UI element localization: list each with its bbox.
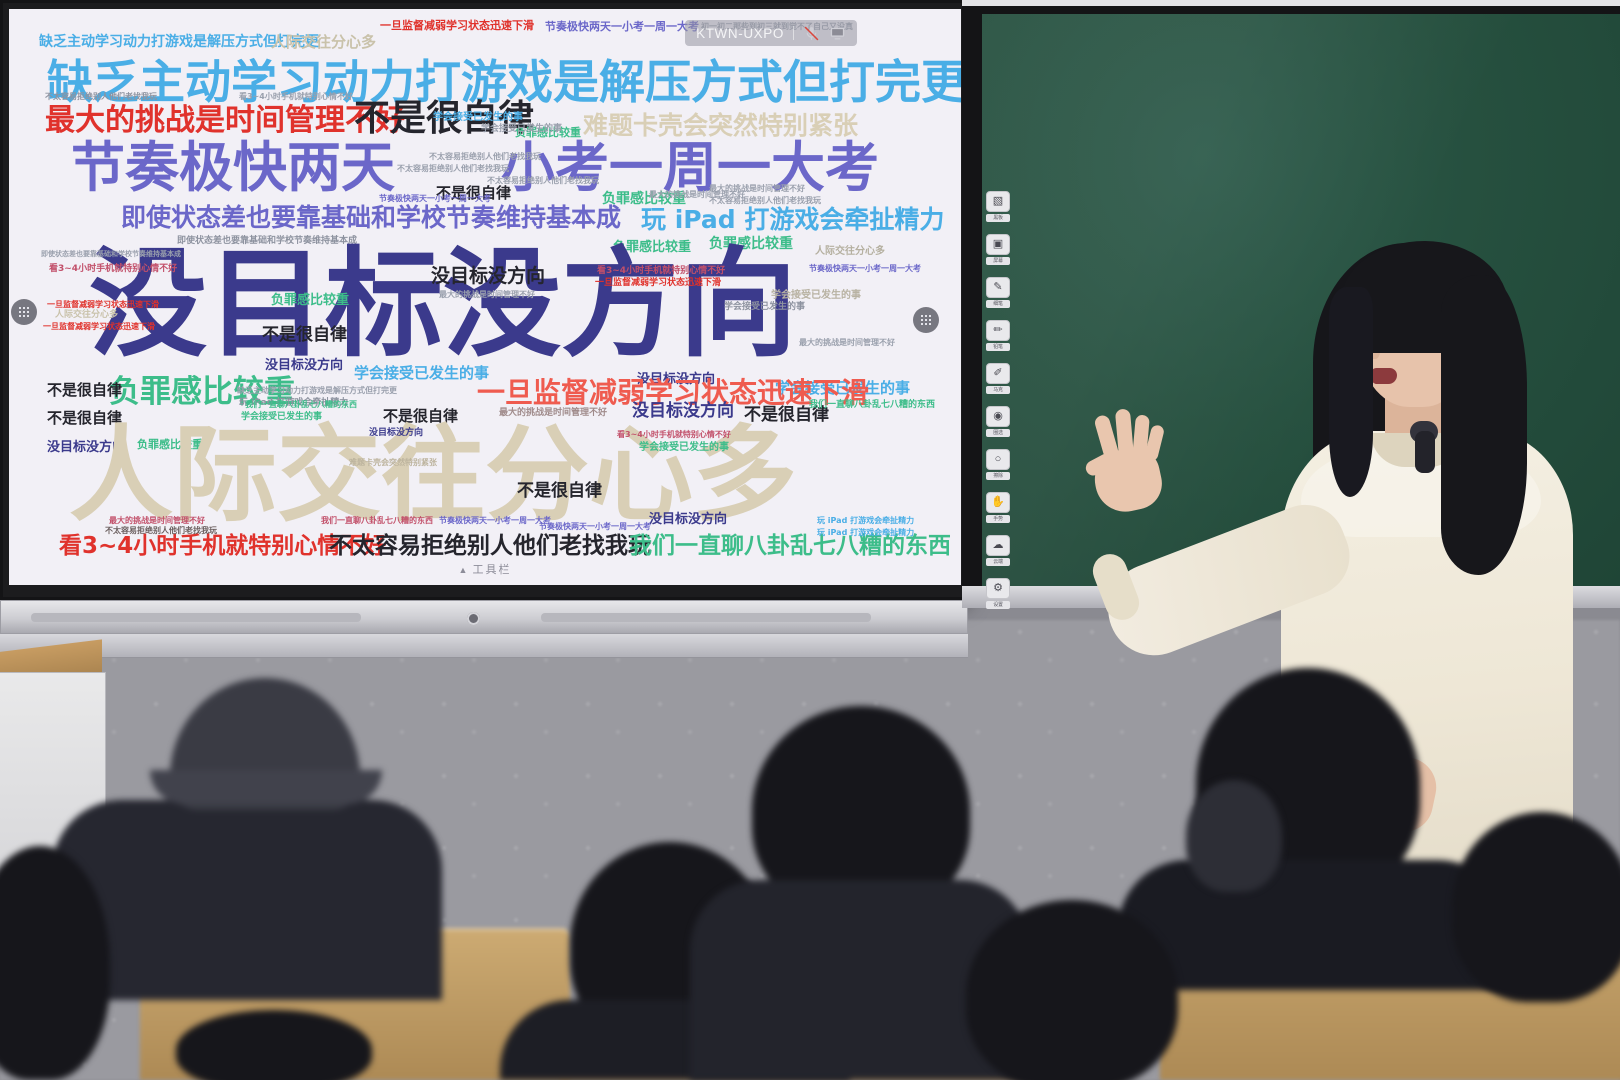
word-cloud-term: 看3~4小时手机就特别心情不好 bbox=[239, 93, 353, 101]
cloud-save-tool-icon: ☁ bbox=[986, 535, 1010, 556]
bezel-vent-left bbox=[31, 613, 361, 622]
word-cloud-term: 玩 iPad 打游戏会牵扯精力 bbox=[641, 207, 944, 232]
settings-tool-icon: ⚙ bbox=[986, 578, 1010, 599]
whiteboard-screen[interactable]: 缺乏主动学习动力打游戏是解压方式但打完更人际交往分心多一旦监督减弱学习状态迅速下… bbox=[9, 9, 961, 585]
circle-select-tool-icon: ◉ bbox=[986, 406, 1010, 427]
word-cloud-term: 不太容易拒绝别人他们老找我玩 bbox=[329, 535, 651, 558]
word-cloud-term: 节奏极快两天一小考一周一大考 bbox=[539, 523, 651, 531]
word-cloud-term: 即使状态差也要靠基础和学校节奏维持基本成 bbox=[41, 251, 181, 258]
whiteboard-speaker-rail bbox=[0, 634, 968, 658]
word-cloud-term: 不是很自律 bbox=[47, 383, 122, 398]
word-cloud-term: 我们一直聊八卦乱七八糟的东西 bbox=[245, 401, 357, 409]
word-cloud-term: 不太容易拒绝别人他们老找我玩 bbox=[45, 93, 157, 101]
pen-tool-caption: 铅笔 bbox=[986, 343, 1010, 351]
word-cloud-term: 难题卡壳会突然特别紧张 bbox=[349, 459, 437, 467]
hand-tool[interactable]: ✋手势 bbox=[986, 492, 1010, 523]
whiteboard-bottom-bezel bbox=[0, 600, 968, 634]
attendee-gl-head bbox=[1186, 780, 1282, 892]
word-cloud-term: 不是很自律 bbox=[262, 327, 347, 344]
word-cloud-term: 节奏极快两天一小考一周一大考 bbox=[439, 517, 551, 525]
word-cloud-term: 学会接受已发生的事 bbox=[639, 443, 729, 453]
board-eraser-tool-caption: 黑板 bbox=[986, 214, 1010, 222]
status-divider bbox=[793, 26, 794, 40]
word-cloud-term: 节奏极快两天 bbox=[71, 141, 395, 195]
word-cloud-term: 即使状态差也要靠基础和学校节奏维持基本成 bbox=[121, 205, 621, 230]
word-cloud-term: 不太容易拒绝别人他们老找我玩 bbox=[429, 153, 541, 161]
word-cloud-term: 节奏极快两天一小考一周一大考 bbox=[809, 265, 921, 273]
screen-tool-caption: 屏幕 bbox=[986, 257, 1010, 265]
pen-tool[interactable]: ✏铅笔 bbox=[986, 320, 1010, 351]
word-cloud-term: 最大的挑战是时间管理不好 bbox=[499, 409, 607, 418]
word-cloud-term: 我们一直聊八卦乱七八糟的东西 bbox=[321, 517, 433, 525]
left-grid-handle[interactable] bbox=[11, 299, 37, 325]
pen-thin-tool-icon: ✎ bbox=[986, 277, 1010, 298]
word-cloud-term: 最大的挑战是时间管理不好 bbox=[799, 339, 895, 347]
word-cloud-term: 学会接受已发生的事 bbox=[433, 113, 523, 123]
attendee-br-head bbox=[966, 900, 1178, 1080]
presenter-hair-left bbox=[1329, 287, 1373, 497]
word-cloud-term: 不太容易拒绝别人他们老找我玩 bbox=[709, 197, 821, 205]
pen-tool-icon: ✏ bbox=[986, 320, 1010, 341]
word-cloud-term: 不太容易拒绝别人他们老找我玩 bbox=[105, 527, 217, 535]
word-cloud-term: 玩 iPad 打游戏会牵扯精力 bbox=[817, 529, 914, 537]
word-cloud-term: 没目标没方向 bbox=[265, 359, 343, 372]
word-cloud-term: 没目标没方向 bbox=[649, 513, 727, 526]
chalkboard-tool-column[interactable]: ▧黑板▣屏幕✎细笔✏铅笔✐马克◉圈选○擦除✋手势☁云端⚙设置 bbox=[986, 191, 1012, 609]
mic-muted-icon[interactable] bbox=[803, 25, 820, 42]
attendee-fr-head bbox=[1452, 812, 1620, 1002]
settings-tool-caption: 设置 bbox=[986, 601, 1010, 609]
finger-middle bbox=[1115, 408, 1134, 459]
screen-tool[interactable]: ▣屏幕 bbox=[986, 234, 1010, 265]
word-cloud-term: 看3~4小时手机就特别心情不好 bbox=[49, 265, 177, 274]
grid-dots-handle-icon bbox=[921, 315, 931, 325]
chevron-up-icon: ▲ bbox=[459, 565, 470, 575]
cloud-save-tool-caption: 云端 bbox=[986, 558, 1010, 566]
circle-select-tool-caption: 圈选 bbox=[986, 429, 1010, 437]
word-cloud-term: 人际交往分心多 bbox=[55, 311, 118, 320]
right-grid-handle[interactable] bbox=[913, 307, 939, 333]
word-cloud-term: 学会接受已发生的事 bbox=[771, 291, 861, 301]
bezel-vent-right bbox=[541, 613, 871, 622]
word-cloud-term: 不是很自律 bbox=[517, 483, 602, 500]
board-eraser-tool[interactable]: ▧黑板 bbox=[986, 191, 1010, 222]
board-eraser-tool-icon: ▧ bbox=[986, 191, 1010, 212]
settings-tool[interactable]: ⚙设置 bbox=[986, 578, 1010, 609]
word-cloud-term: 负罪感比较重 bbox=[271, 294, 349, 307]
lecture-hall-scene: 缺乏主动学习动力打游戏是解压方式但打完更人际交往分心多一旦监督减弱学习状态迅速下… bbox=[0, 0, 1620, 1080]
word-cloud-term: 一旦监督减弱学习状态迅速下滑 bbox=[595, 279, 721, 288]
word-cloud-term: 不太容易拒绝别人他们老找我玩 bbox=[397, 165, 509, 173]
word-cloud-term: 难题卡壳会突然特别紧张 bbox=[583, 113, 858, 138]
toolbar-expand-hint[interactable]: ▲工具栏 bbox=[9, 561, 961, 577]
word-cloud-term: 学会接受已发生的事 bbox=[481, 125, 562, 134]
hand-tool-caption: 手势 bbox=[986, 515, 1010, 523]
word-cloud-term: 一旦监督减弱学习状态迅速下滑 bbox=[380, 20, 534, 31]
grid-dots-handle-icon bbox=[19, 307, 29, 317]
word-cloud-term: 最大的挑战是时间管理不好 bbox=[709, 185, 805, 193]
word-cloud-term: 玩 iPad 打游戏会牵扯精力 bbox=[817, 517, 914, 525]
marker-tool-icon: ✐ bbox=[986, 363, 1010, 384]
word-cloud-term: 最大的挑战是时间管理不好 bbox=[109, 517, 205, 525]
word-cloud-term: 看3~4小时手机就特别心情不好 bbox=[597, 267, 725, 276]
cloud-save-tool[interactable]: ☁云端 bbox=[986, 535, 1010, 566]
eraser-tool-icon: ○ bbox=[986, 449, 1010, 470]
word-cloud-term: 没目标没方向 bbox=[89, 245, 797, 363]
circle-select-tool[interactable]: ◉圈选 bbox=[986, 406, 1010, 437]
network-name-label: KTWN-UXPO bbox=[696, 26, 784, 41]
word-cloud-term: 最大的挑战是时间管理不好 bbox=[45, 106, 405, 136]
interactive-whiteboard[interactable]: 缺乏主动学习动力打游戏是解压方式但打完更人际交往分心多一旦监督减弱学习状态迅速下… bbox=[0, 0, 968, 600]
word-cloud-term: 人际交往分心多 bbox=[815, 247, 885, 257]
whiteboard-camera-icon bbox=[467, 612, 480, 625]
pen-thin-tool-caption: 细笔 bbox=[986, 300, 1010, 308]
screen-cast-icon[interactable] bbox=[829, 25, 846, 42]
screen-tool-icon: ▣ bbox=[986, 234, 1010, 255]
word-cloud-term: 缺乏主动学习动力打游戏是解压方式但打完更 bbox=[237, 387, 397, 395]
presenter-mouth bbox=[1371, 368, 1397, 384]
word-cloud-term: 学会接受已发生的事 bbox=[354, 366, 489, 381]
attendee-rt-shoulders bbox=[1118, 860, 1508, 990]
word-cloud-term: 节奏极快两天一小考一周一大考 bbox=[379, 195, 491, 203]
attendee-bc-head bbox=[176, 1010, 372, 1080]
marker-tool[interactable]: ✐马克 bbox=[986, 363, 1010, 394]
lapel-microphone-body bbox=[1415, 431, 1435, 473]
word-cloud-term: 我们一直聊八卦乱七八糟的东西 bbox=[629, 535, 951, 558]
word-cloud-term: 不太容易拒绝别人他们老找我玩 bbox=[487, 177, 599, 185]
attendee-cap-shoulders bbox=[52, 800, 442, 1000]
presenter-raised-hand bbox=[1077, 405, 1171, 513]
eraser-tool-caption: 擦除 bbox=[986, 472, 1010, 480]
word-cloud-term: 一旦监督减弱学习状态迅速下滑 bbox=[47, 301, 159, 309]
word-cloud-term: 我们一直聊八卦乱七八糟的东西 bbox=[809, 401, 935, 410]
word-cloud-term: 学会接受已发生的事 bbox=[241, 413, 322, 422]
word-cloud-term: 学会接受已发生的事 bbox=[724, 303, 805, 312]
word-cloud-term: 没目标没方向 bbox=[431, 267, 545, 286]
word-cloud-term: 一旦监督减弱学习状态迅速下滑 bbox=[43, 323, 155, 331]
word-cloud-term: 节奏极快两天一小考一周一大考 bbox=[545, 21, 699, 32]
whiteboard-status-bar: KTWN-UXPO bbox=[685, 20, 857, 46]
toolbar-hint-label: 工具栏 bbox=[472, 564, 511, 576]
word-cloud-term: 看3~4小时手机就特别心情不好 bbox=[617, 431, 731, 439]
presenter-hair-side bbox=[1441, 275, 1527, 575]
eraser-tool[interactable]: ○擦除 bbox=[986, 449, 1010, 480]
word-cloud-term: 没目标没方向 bbox=[369, 429, 423, 438]
word-cloud-term: 最大的挑战是时间管理不好 bbox=[439, 291, 535, 299]
word-cloud-term: 人际交往分心多 bbox=[271, 35, 376, 50]
pen-thin-tool[interactable]: ✎细笔 bbox=[986, 277, 1010, 308]
hand-tool-icon: ✋ bbox=[986, 492, 1010, 513]
word-cloud-term: 小考一周一大考 bbox=[501, 141, 879, 195]
marker-tool-caption: 马克 bbox=[986, 386, 1010, 394]
word-cloud: 缺乏主动学习动力打游戏是解压方式但打完更人际交往分心多一旦监督减弱学习状态迅速下… bbox=[9, 9, 961, 569]
cap-brim bbox=[150, 770, 382, 804]
